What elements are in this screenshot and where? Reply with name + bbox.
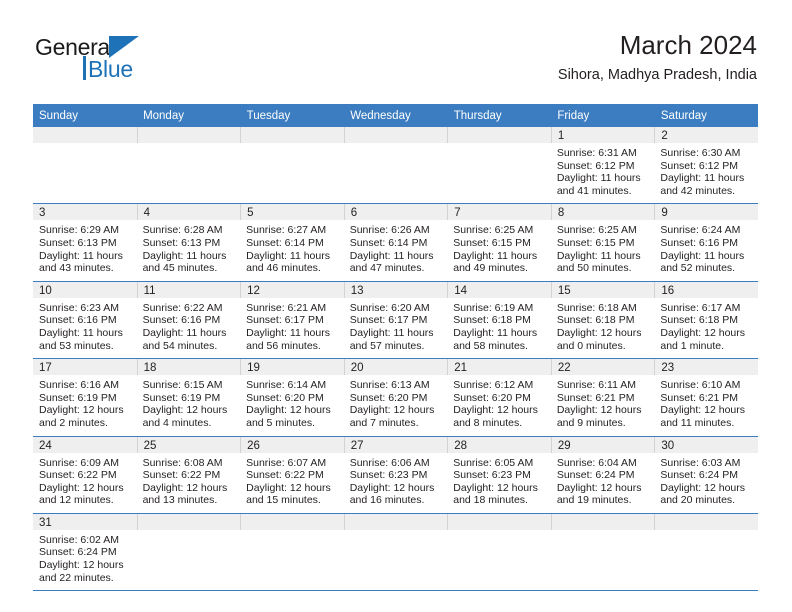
day-details: Sunrise: 6:12 AMSunset: 6:20 PMDaylight:… xyxy=(447,375,551,435)
day-number xyxy=(240,514,344,530)
weekday-header-saturday: Saturday xyxy=(654,104,758,127)
sunset-text: Sunset: 6:16 PM xyxy=(39,314,132,327)
sunset-text: Sunset: 6:16 PM xyxy=(143,314,236,327)
day-details: Sunrise: 6:28 AMSunset: 6:13 PMDaylight:… xyxy=(137,220,241,280)
day-number: 10 xyxy=(33,282,137,298)
day-number: 26 xyxy=(240,437,344,453)
day-number: 31 xyxy=(33,514,137,530)
sunset-text: Sunset: 6:24 PM xyxy=(39,546,132,559)
day-number: 13 xyxy=(344,282,448,298)
day-number: 8 xyxy=(551,204,655,220)
daylight-text-line1: Daylight: 12 hours xyxy=(39,404,132,417)
sunset-text: Sunset: 6:24 PM xyxy=(660,469,753,482)
daylight-text-line2: and 12 minutes. xyxy=(39,494,132,507)
sunrise-text: Sunrise: 6:15 AM xyxy=(143,379,236,392)
calendar-day-cell[interactable]: 10Sunrise: 6:23 AMSunset: 6:16 PMDayligh… xyxy=(33,281,137,358)
sunrise-text: Sunrise: 6:04 AM xyxy=(557,457,650,470)
sunset-text: Sunset: 6:17 PM xyxy=(350,314,443,327)
sunrise-text: Sunrise: 6:22 AM xyxy=(143,302,236,315)
day-number xyxy=(344,127,448,143)
daylight-text-line2: and 15 minutes. xyxy=(246,494,339,507)
daylight-text-line1: Daylight: 12 hours xyxy=(557,404,650,417)
sunset-text: Sunset: 6:12 PM xyxy=(557,160,650,173)
calendar-day-cell-empty xyxy=(344,127,448,204)
calendar-day-cell[interactable]: 9Sunrise: 6:24 AMSunset: 6:16 PMDaylight… xyxy=(654,204,758,281)
sunset-text: Sunset: 6:21 PM xyxy=(660,392,753,405)
daylight-text-line1: Daylight: 12 hours xyxy=(350,404,443,417)
sunrise-text: Sunrise: 6:10 AM xyxy=(660,379,753,392)
daylight-text-line2: and 5 minutes. xyxy=(246,417,339,430)
day-details xyxy=(240,143,344,197)
day-details: Sunrise: 6:08 AMSunset: 6:22 PMDaylight:… xyxy=(137,453,241,513)
day-details: Sunrise: 6:31 AMSunset: 6:12 PMDaylight:… xyxy=(551,143,655,203)
sunrise-text: Sunrise: 6:07 AM xyxy=(246,457,339,470)
daylight-text-line1: Daylight: 11 hours xyxy=(143,327,236,340)
calendar-day-cell[interactable]: 13Sunrise: 6:20 AMSunset: 6:17 PMDayligh… xyxy=(344,281,448,358)
day-number: 17 xyxy=(33,359,137,375)
calendar-week-row: 3Sunrise: 6:29 AMSunset: 6:13 PMDaylight… xyxy=(33,204,758,281)
sunrise-text: Sunrise: 6:26 AM xyxy=(350,224,443,237)
day-number: 6 xyxy=(344,204,448,220)
day-details: Sunrise: 6:17 AMSunset: 6:18 PMDaylight:… xyxy=(654,298,758,358)
day-details: Sunrise: 6:22 AMSunset: 6:16 PMDaylight:… xyxy=(137,298,241,358)
page-title: March 2024 xyxy=(558,28,757,62)
sunrise-text: Sunrise: 6:11 AM xyxy=(557,379,650,392)
calendar-day-cell[interactable]: 1Sunrise: 6:31 AMSunset: 6:12 PMDaylight… xyxy=(551,127,655,204)
day-number: 28 xyxy=(447,437,551,453)
day-details: Sunrise: 6:25 AMSunset: 6:15 PMDaylight:… xyxy=(551,220,655,280)
weekday-header-sunday: Sunday xyxy=(33,104,137,127)
day-number: 12 xyxy=(240,282,344,298)
day-number xyxy=(344,514,448,530)
day-details: Sunrise: 6:30 AMSunset: 6:12 PMDaylight:… xyxy=(654,143,758,203)
sunrise-text: Sunrise: 6:18 AM xyxy=(557,302,650,315)
weekday-header-friday: Friday xyxy=(551,104,655,127)
sunrise-text: Sunrise: 6:06 AM xyxy=(350,457,443,470)
daylight-text-line2: and 46 minutes. xyxy=(246,262,339,275)
weekday-header-tuesday: Tuesday xyxy=(240,104,344,127)
day-details: Sunrise: 6:25 AMSunset: 6:15 PMDaylight:… xyxy=(447,220,551,280)
sunrise-text: Sunrise: 6:29 AM xyxy=(39,224,132,237)
daylight-text-line1: Daylight: 11 hours xyxy=(453,327,546,340)
day-number: 21 xyxy=(447,359,551,375)
calendar-day-cell[interactable]: 17Sunrise: 6:16 AMSunset: 6:19 PMDayligh… xyxy=(33,359,137,436)
daylight-text-line2: and 54 minutes. xyxy=(143,340,236,353)
daylight-text-line2: and 56 minutes. xyxy=(246,340,339,353)
sunset-text: Sunset: 6:13 PM xyxy=(39,237,132,250)
weekday-header-thursday: Thursday xyxy=(447,104,551,127)
calendar-day-cell-empty xyxy=(344,513,448,590)
day-details: Sunrise: 6:14 AMSunset: 6:20 PMDaylight:… xyxy=(240,375,344,435)
daylight-text-line1: Daylight: 12 hours xyxy=(350,482,443,495)
day-number: 2 xyxy=(654,127,758,143)
sunrise-text: Sunrise: 6:12 AM xyxy=(453,379,546,392)
calendar-day-cell-empty xyxy=(447,513,551,590)
calendar-day-cell[interactable]: 2Sunrise: 6:30 AMSunset: 6:12 PMDaylight… xyxy=(654,127,758,204)
brand-name-blue: Blue xyxy=(88,56,133,82)
sunrise-text: Sunrise: 6:27 AM xyxy=(246,224,339,237)
calendar-week-row: 1Sunrise: 6:31 AMSunset: 6:12 PMDaylight… xyxy=(33,127,758,204)
daylight-text-line2: and 2 minutes. xyxy=(39,417,132,430)
sunrise-text: Sunrise: 6:09 AM xyxy=(39,457,132,470)
calendar-day-cell[interactable]: 27Sunrise: 6:06 AMSunset: 6:23 PMDayligh… xyxy=(344,436,448,513)
day-number: 20 xyxy=(344,359,448,375)
sunset-text: Sunset: 6:19 PM xyxy=(143,392,236,405)
day-details xyxy=(344,530,448,584)
daylight-text-line1: Daylight: 11 hours xyxy=(660,250,753,263)
sunset-text: Sunset: 6:22 PM xyxy=(246,469,339,482)
day-details: Sunrise: 6:04 AMSunset: 6:24 PMDaylight:… xyxy=(551,453,655,513)
daylight-text-line1: Daylight: 11 hours xyxy=(350,327,443,340)
day-details: Sunrise: 6:13 AMSunset: 6:20 PMDaylight:… xyxy=(344,375,448,435)
day-number: 15 xyxy=(551,282,655,298)
daylight-text-line1: Daylight: 11 hours xyxy=(557,172,650,185)
day-number: 9 xyxy=(654,204,758,220)
day-details: Sunrise: 6:11 AMSunset: 6:21 PMDaylight:… xyxy=(551,375,655,435)
sunrise-text: Sunrise: 6:21 AM xyxy=(246,302,339,315)
calendar-day-cell-empty xyxy=(137,513,241,590)
day-details: Sunrise: 6:03 AMSunset: 6:24 PMDaylight:… xyxy=(654,453,758,513)
day-details xyxy=(344,143,448,197)
day-number xyxy=(447,514,551,530)
calendar-day-cell[interactable]: 11Sunrise: 6:22 AMSunset: 6:16 PMDayligh… xyxy=(137,281,241,358)
daylight-text-line2: and 57 minutes. xyxy=(350,340,443,353)
day-number: 7 xyxy=(447,204,551,220)
weekday-header-row: Sunday Monday Tuesday Wednesday Thursday… xyxy=(33,104,758,127)
daylight-text-line2: and 52 minutes. xyxy=(660,262,753,275)
calendar-day-cell-empty xyxy=(33,127,137,204)
day-details: Sunrise: 6:18 AMSunset: 6:18 PMDaylight:… xyxy=(551,298,655,358)
calendar-day-cell[interactable]: 4Sunrise: 6:28 AMSunset: 6:13 PMDaylight… xyxy=(137,204,241,281)
day-details: Sunrise: 6:19 AMSunset: 6:18 PMDaylight:… xyxy=(447,298,551,358)
day-number xyxy=(137,127,241,143)
sunrise-text: Sunrise: 6:16 AM xyxy=(39,379,132,392)
daylight-text-line2: and 0 minutes. xyxy=(557,340,650,353)
daylight-text-line1: Daylight: 12 hours xyxy=(557,482,650,495)
calendar-day-cell-empty xyxy=(551,513,655,590)
day-number: 16 xyxy=(654,282,758,298)
sunset-text: Sunset: 6:23 PM xyxy=(453,469,546,482)
daylight-text-line1: Daylight: 12 hours xyxy=(246,482,339,495)
calendar-week-row: 17Sunrise: 6:16 AMSunset: 6:19 PMDayligh… xyxy=(33,359,758,436)
day-number: 29 xyxy=(551,437,655,453)
page-subtitle: Sihora, Madhya Pradesh, India xyxy=(558,64,757,86)
calendar-day-cell[interactable]: 6Sunrise: 6:26 AMSunset: 6:14 PMDaylight… xyxy=(344,204,448,281)
daylight-text-line1: Daylight: 12 hours xyxy=(453,482,546,495)
sunrise-text: Sunrise: 6:20 AM xyxy=(350,302,443,315)
day-details xyxy=(137,530,241,584)
sunset-text: Sunset: 6:22 PM xyxy=(39,469,132,482)
daylight-text-line2: and 43 minutes. xyxy=(39,262,132,275)
calendar-day-cell[interactable]: 7Sunrise: 6:25 AMSunset: 6:15 PMDaylight… xyxy=(447,204,551,281)
sunset-text: Sunset: 6:19 PM xyxy=(39,392,132,405)
day-number: 3 xyxy=(33,204,137,220)
day-number xyxy=(551,514,655,530)
day-number: 4 xyxy=(137,204,241,220)
calendar-day-cell[interactable]: 18Sunrise: 6:15 AMSunset: 6:19 PMDayligh… xyxy=(137,359,241,436)
calendar-day-cell[interactable]: 23Sunrise: 6:10 AMSunset: 6:21 PMDayligh… xyxy=(654,359,758,436)
calendar-day-cell-empty xyxy=(240,127,344,204)
day-details: Sunrise: 6:23 AMSunset: 6:16 PMDaylight:… xyxy=(33,298,137,358)
day-details xyxy=(33,143,137,197)
sunset-text: Sunset: 6:18 PM xyxy=(660,314,753,327)
daylight-text-line2: and 47 minutes. xyxy=(350,262,443,275)
daylight-text-line2: and 13 minutes. xyxy=(143,494,236,507)
title-block: March 2024 Sihora, Madhya Pradesh, India xyxy=(558,28,757,86)
day-number: 27 xyxy=(344,437,448,453)
calendar-page: General Blue March 2024 Sihora, Madhya P… xyxy=(0,0,792,612)
calendar-day-cell-empty xyxy=(240,513,344,590)
brand-flag-icon xyxy=(109,36,139,58)
sunrise-text: Sunrise: 6:13 AM xyxy=(350,379,443,392)
daylight-text-line1: Daylight: 12 hours xyxy=(660,327,753,340)
page-header: General Blue March 2024 Sihora, Madhya P… xyxy=(35,28,757,96)
daylight-text-line2: and 9 minutes. xyxy=(557,417,650,430)
daylight-text-line2: and 58 minutes. xyxy=(453,340,546,353)
day-number: 19 xyxy=(240,359,344,375)
sunset-text: Sunset: 6:20 PM xyxy=(453,392,546,405)
day-number: 30 xyxy=(654,437,758,453)
day-number: 11 xyxy=(137,282,241,298)
daylight-text-line1: Daylight: 11 hours xyxy=(143,250,236,263)
sunrise-text: Sunrise: 6:30 AM xyxy=(660,147,753,160)
day-details: Sunrise: 6:10 AMSunset: 6:21 PMDaylight:… xyxy=(654,375,758,435)
sunset-text: Sunset: 6:23 PM xyxy=(350,469,443,482)
day-number: 5 xyxy=(240,204,344,220)
day-number: 1 xyxy=(551,127,655,143)
day-details: Sunrise: 6:16 AMSunset: 6:19 PMDaylight:… xyxy=(33,375,137,435)
sunset-text: Sunset: 6:18 PM xyxy=(557,314,650,327)
sunrise-text: Sunrise: 6:19 AM xyxy=(453,302,546,315)
sunset-text: Sunset: 6:12 PM xyxy=(660,160,753,173)
sunset-text: Sunset: 6:22 PM xyxy=(143,469,236,482)
sunset-text: Sunset: 6:21 PM xyxy=(557,392,650,405)
sunrise-text: Sunrise: 6:05 AM xyxy=(453,457,546,470)
daylight-text-line2: and 49 minutes. xyxy=(453,262,546,275)
calendar-day-cell[interactable]: 26Sunrise: 6:07 AMSunset: 6:22 PMDayligh… xyxy=(240,436,344,513)
daylight-text-line2: and 1 minute. xyxy=(660,340,753,353)
day-details: Sunrise: 6:24 AMSunset: 6:16 PMDaylight:… xyxy=(654,220,758,280)
daylight-text-line1: Daylight: 11 hours xyxy=(246,327,339,340)
daylight-text-line2: and 4 minutes. xyxy=(143,417,236,430)
calendar-day-cell[interactable]: 24Sunrise: 6:09 AMSunset: 6:22 PMDayligh… xyxy=(33,436,137,513)
sunrise-text: Sunrise: 6:02 AM xyxy=(39,534,132,547)
day-number xyxy=(654,514,758,530)
day-details xyxy=(447,143,551,197)
day-details: Sunrise: 6:02 AMSunset: 6:24 PMDaylight:… xyxy=(33,530,137,590)
day-details: Sunrise: 6:20 AMSunset: 6:17 PMDaylight:… xyxy=(344,298,448,358)
day-number: 23 xyxy=(654,359,758,375)
daylight-text-line2: and 20 minutes. xyxy=(660,494,753,507)
daylight-text-line1: Daylight: 12 hours xyxy=(557,327,650,340)
weekday-header-monday: Monday xyxy=(137,104,241,127)
day-number xyxy=(137,514,241,530)
day-details: Sunrise: 6:05 AMSunset: 6:23 PMDaylight:… xyxy=(447,453,551,513)
calendar-day-cell[interactable]: 3Sunrise: 6:29 AMSunset: 6:13 PMDaylight… xyxy=(33,204,137,281)
calendar-day-cell[interactable]: 5Sunrise: 6:27 AMSunset: 6:14 PMDaylight… xyxy=(240,204,344,281)
sunset-text: Sunset: 6:18 PM xyxy=(453,314,546,327)
day-details: Sunrise: 6:26 AMSunset: 6:14 PMDaylight:… xyxy=(344,220,448,280)
calendar-day-cell[interactable]: 20Sunrise: 6:13 AMSunset: 6:20 PMDayligh… xyxy=(344,359,448,436)
daylight-text-line2: and 8 minutes. xyxy=(453,417,546,430)
calendar-day-cell[interactable]: 15Sunrise: 6:18 AMSunset: 6:18 PMDayligh… xyxy=(551,281,655,358)
daylight-text-line1: Daylight: 11 hours xyxy=(39,327,132,340)
daylight-text-line1: Daylight: 11 hours xyxy=(557,250,650,263)
day-number xyxy=(33,127,137,143)
daylight-text-line2: and 11 minutes. xyxy=(660,417,753,430)
sunrise-text: Sunrise: 6:24 AM xyxy=(660,224,753,237)
calendar-day-cell[interactable]: 14Sunrise: 6:19 AMSunset: 6:18 PMDayligh… xyxy=(447,281,551,358)
daylight-text-line1: Daylight: 11 hours xyxy=(660,172,753,185)
sunrise-text: Sunrise: 6:17 AM xyxy=(660,302,753,315)
sunrise-text: Sunrise: 6:25 AM xyxy=(557,224,650,237)
daylight-text-line1: Daylight: 12 hours xyxy=(143,482,236,495)
daylight-text-line2: and 42 minutes. xyxy=(660,185,753,198)
calendar-day-cell[interactable]: 8Sunrise: 6:25 AMSunset: 6:15 PMDaylight… xyxy=(551,204,655,281)
daylight-text-line1: Daylight: 11 hours xyxy=(350,250,443,263)
calendar-day-cell[interactable]: 30Sunrise: 6:03 AMSunset: 6:24 PMDayligh… xyxy=(654,436,758,513)
sunset-text: Sunset: 6:16 PM xyxy=(660,237,753,250)
daylight-text-line1: Daylight: 12 hours xyxy=(660,404,753,417)
day-details: Sunrise: 6:29 AMSunset: 6:13 PMDaylight:… xyxy=(33,220,137,280)
daylight-text-line1: Daylight: 11 hours xyxy=(246,250,339,263)
daylight-text-line1: Daylight: 12 hours xyxy=(246,404,339,417)
daylight-text-line1: Daylight: 12 hours xyxy=(453,404,546,417)
sunset-text: Sunset: 6:14 PM xyxy=(246,237,339,250)
calendar-day-cell[interactable]: 25Sunrise: 6:08 AMSunset: 6:22 PMDayligh… xyxy=(137,436,241,513)
daylight-text-line2: and 7 minutes. xyxy=(350,417,443,430)
day-details xyxy=(447,530,551,584)
calendar-day-cell[interactable]: 21Sunrise: 6:12 AMSunset: 6:20 PMDayligh… xyxy=(447,359,551,436)
daylight-text-line2: and 19 minutes. xyxy=(557,494,650,507)
sunrise-text: Sunrise: 6:23 AM xyxy=(39,302,132,315)
weekday-header-wednesday: Wednesday xyxy=(344,104,448,127)
calendar-day-cell-empty xyxy=(654,513,758,590)
calendar-week-row: 31Sunrise: 6:02 AMSunset: 6:24 PMDayligh… xyxy=(33,513,758,590)
daylight-text-line1: Daylight: 12 hours xyxy=(660,482,753,495)
day-number: 18 xyxy=(137,359,241,375)
calendar-day-cell-empty xyxy=(447,127,551,204)
sunset-text: Sunset: 6:14 PM xyxy=(350,237,443,250)
daylight-text-line1: Daylight: 12 hours xyxy=(39,559,132,572)
calendar-day-cell[interactable]: 29Sunrise: 6:04 AMSunset: 6:24 PMDayligh… xyxy=(551,436,655,513)
day-details xyxy=(551,530,655,584)
day-details: Sunrise: 6:15 AMSunset: 6:19 PMDaylight:… xyxy=(137,375,241,435)
sunset-text: Sunset: 6:15 PM xyxy=(453,237,546,250)
calendar-table: Sunday Monday Tuesday Wednesday Thursday… xyxy=(33,104,758,591)
daylight-text-line2: and 18 minutes. xyxy=(453,494,546,507)
sunrise-text: Sunrise: 6:31 AM xyxy=(557,147,650,160)
day-number: 25 xyxy=(137,437,241,453)
sunrise-text: Sunrise: 6:08 AM xyxy=(143,457,236,470)
calendar-day-cell[interactable]: 22Sunrise: 6:11 AMSunset: 6:21 PMDayligh… xyxy=(551,359,655,436)
day-number xyxy=(447,127,551,143)
daylight-text-line2: and 41 minutes. xyxy=(557,185,650,198)
day-details: Sunrise: 6:07 AMSunset: 6:22 PMDaylight:… xyxy=(240,453,344,513)
sunset-text: Sunset: 6:20 PM xyxy=(246,392,339,405)
daylight-text-line2: and 22 minutes. xyxy=(39,572,132,585)
day-details: Sunrise: 6:21 AMSunset: 6:17 PMDaylight:… xyxy=(240,298,344,358)
day-details: Sunrise: 6:27 AMSunset: 6:14 PMDaylight:… xyxy=(240,220,344,280)
sunrise-text: Sunrise: 6:03 AM xyxy=(660,457,753,470)
sunset-text: Sunset: 6:20 PM xyxy=(350,392,443,405)
day-details xyxy=(137,143,241,197)
day-details xyxy=(240,530,344,584)
sunrise-text: Sunrise: 6:28 AM xyxy=(143,224,236,237)
sunset-text: Sunset: 6:13 PM xyxy=(143,237,236,250)
day-details: Sunrise: 6:09 AMSunset: 6:22 PMDaylight:… xyxy=(33,453,137,513)
daylight-text-line2: and 45 minutes. xyxy=(143,262,236,275)
generalblue-logo[interactable]: General Blue xyxy=(35,34,215,90)
day-details xyxy=(654,530,758,584)
sunrise-text: Sunrise: 6:14 AM xyxy=(246,379,339,392)
calendar-day-cell-empty xyxy=(137,127,241,204)
calendar-day-cell[interactable]: 19Sunrise: 6:14 AMSunset: 6:20 PMDayligh… xyxy=(240,359,344,436)
calendar-week-row: 10Sunrise: 6:23 AMSunset: 6:16 PMDayligh… xyxy=(33,281,758,358)
sunset-text: Sunset: 6:15 PM xyxy=(557,237,650,250)
daylight-text-line2: and 53 minutes. xyxy=(39,340,132,353)
calendar-day-cell[interactable]: 16Sunrise: 6:17 AMSunset: 6:18 PMDayligh… xyxy=(654,281,758,358)
sunset-text: Sunset: 6:17 PM xyxy=(246,314,339,327)
day-details: Sunrise: 6:06 AMSunset: 6:23 PMDaylight:… xyxy=(344,453,448,513)
daylight-text-line1: Daylight: 11 hours xyxy=(453,250,546,263)
calendar-week-row: 24Sunrise: 6:09 AMSunset: 6:22 PMDayligh… xyxy=(33,436,758,513)
daylight-text-line1: Daylight: 12 hours xyxy=(39,482,132,495)
day-number: 14 xyxy=(447,282,551,298)
daylight-text-line1: Daylight: 11 hours xyxy=(39,250,132,263)
daylight-text-line2: and 16 minutes. xyxy=(350,494,443,507)
calendar-day-cell[interactable]: 12Sunrise: 6:21 AMSunset: 6:17 PMDayligh… xyxy=(240,281,344,358)
sunrise-text: Sunrise: 6:25 AM xyxy=(453,224,546,237)
calendar-day-cell[interactable]: 28Sunrise: 6:05 AMSunset: 6:23 PMDayligh… xyxy=(447,436,551,513)
calendar-day-cell[interactable]: 31Sunrise: 6:02 AMSunset: 6:24 PMDayligh… xyxy=(33,513,137,590)
daylight-text-line1: Daylight: 12 hours xyxy=(143,404,236,417)
day-number xyxy=(240,127,344,143)
day-number: 22 xyxy=(551,359,655,375)
brand-bar-icon xyxy=(83,56,86,80)
day-number: 24 xyxy=(33,437,137,453)
sunset-text: Sunset: 6:24 PM xyxy=(557,469,650,482)
calendar-body: 1Sunrise: 6:31 AMSunset: 6:12 PMDaylight… xyxy=(33,127,758,591)
daylight-text-line2: and 50 minutes. xyxy=(557,262,650,275)
